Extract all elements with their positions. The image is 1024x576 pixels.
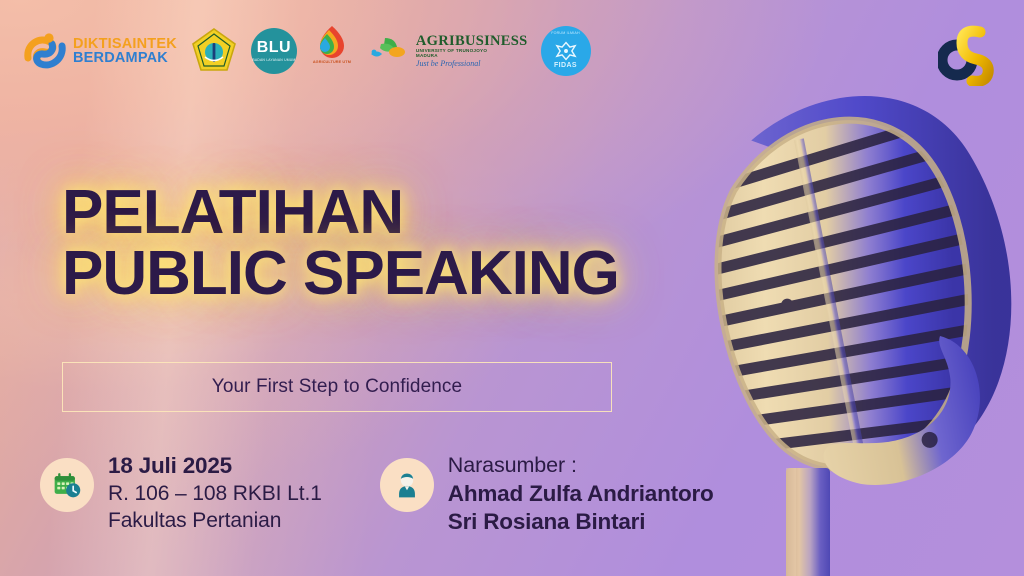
poster-canvas: DIKTISAINTEK BERDAMPAK BLU BADAN LAYANAN… bbox=[0, 0, 1024, 576]
agribusiness-script: Just be Professional bbox=[416, 60, 528, 68]
speaker-name-1: Ahmad Zulfa Andriantoro bbox=[448, 480, 714, 509]
speaker-label: Narasumber : bbox=[448, 452, 714, 480]
s-monogram-logo bbox=[938, 16, 1002, 86]
diktisaintek-mark-icon bbox=[22, 28, 68, 74]
diktisaintek-berdampak-logo: DIKTISAINTEK BERDAMPAK bbox=[22, 23, 177, 79]
fidas-ring-text: FORUM ILMIAH bbox=[541, 31, 591, 35]
fidas-star-icon bbox=[553, 38, 579, 64]
blu-label: BLU bbox=[257, 40, 291, 56]
calendar-clock-icon bbox=[40, 458, 94, 512]
event-date: 18 Juli 2025 bbox=[108, 452, 322, 481]
agroteknologi-utm-logo: AGRICULTURE UTM bbox=[310, 23, 354, 79]
speaker-details-block: Narasumber : Ahmad Zulfa Andriantoro Sri… bbox=[380, 452, 714, 537]
partner-logo-strip: DIKTISAINTEK BERDAMPAK BLU BADAN LAYANAN… bbox=[22, 22, 591, 80]
blu-sublabel: BADAN LAYANAN UMUM bbox=[252, 58, 295, 62]
blu-logo: BLU BADAN LAYANAN UMUM bbox=[251, 23, 297, 79]
info-row: 18 Juli 2025 R. 106 – 108 RKBI Lt.1 Faku… bbox=[40, 452, 714, 537]
agribusiness-utm-logo: AGRIBUSINESS UNIVERSITY OF TRUNOJOYO MAD… bbox=[367, 23, 528, 79]
speaker-name-2: Sri Rosiana Bintari bbox=[448, 508, 714, 537]
dikti-line-2: BERDAMPAK bbox=[73, 51, 177, 66]
page-title: PELATIHAN PUBLIC SPEAKING bbox=[62, 182, 619, 305]
person-avatar-icon bbox=[380, 458, 434, 512]
fidas-logo: FORUM ILMIAH FIDAS bbox=[541, 23, 591, 79]
fidas-label: FIDAS bbox=[541, 62, 591, 69]
agribusiness-sub2: MADURA bbox=[416, 54, 528, 59]
tagline-box: Your First Step to Confidence bbox=[62, 362, 612, 412]
event-faculty: Fakultas Pertanian bbox=[108, 508, 322, 535]
event-details-block: 18 Juli 2025 R. 106 – 108 RKBI Lt.1 Faku… bbox=[40, 452, 322, 535]
event-room: R. 106 – 108 RKBI Lt.1 bbox=[108, 481, 322, 508]
agribusiness-title: AGRIBUSINESS bbox=[416, 34, 528, 49]
tagline-text: Your First Step to Confidence bbox=[212, 376, 462, 398]
headline-line-1: PELATIHAN bbox=[62, 182, 619, 243]
universitas-trunojoyo-seal bbox=[190, 23, 238, 79]
headline-line-2: PUBLIC SPEAKING bbox=[62, 243, 619, 304]
agro-caption: AGRICULTURE UTM bbox=[313, 60, 351, 64]
dikti-line-1: DIKTISAINTEK bbox=[73, 37, 177, 52]
